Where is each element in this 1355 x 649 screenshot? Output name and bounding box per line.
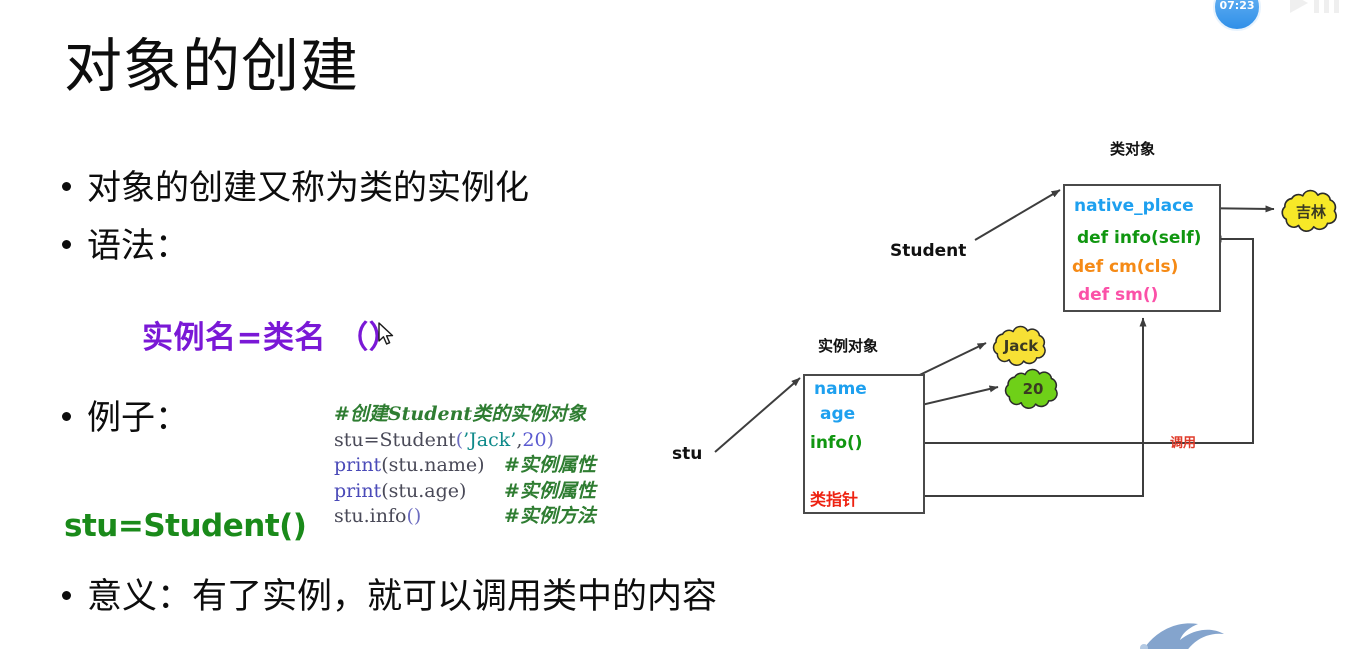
bullet-dot-icon (62, 182, 71, 191)
page-title: 对象的创建 (64, 36, 359, 97)
instance-slot-class-pointer: 类指针 (810, 486, 858, 510)
bullet-dot-icon (62, 240, 71, 249)
diagram-label-instance-object: 实例对象 (818, 335, 878, 356)
code-token: (stu.name) (381, 454, 484, 476)
code-token: print (334, 480, 381, 502)
instance-slot-age: age (820, 404, 855, 424)
cloud-jack: Jack (988, 325, 1054, 367)
code-line: print(stu.age) #实例属性 (334, 479, 586, 505)
bullet-text: 语法： (87, 228, 189, 265)
bullet-item: 意义：有了实例，就可以调用类中的内容 (62, 578, 717, 617)
diagram-label-class-object: 类对象 (1110, 138, 1155, 159)
cloud-twenty: 20 (1000, 368, 1066, 410)
diagram-label-student: Student (890, 241, 966, 261)
bullet-dot-icon (62, 412, 71, 421)
slide-canvas: 对象的创建 对象的创建又称为类的实例化 语法： 例子： 意义：有了实例，就可以调… (0, 0, 1355, 649)
bullet-item: 例子： (62, 400, 189, 437)
diagram-label-invoke: 调用 (1170, 432, 1196, 451)
stu-student-expression: stu=Student() (64, 508, 306, 544)
code-comment: #实例属性 (504, 453, 596, 479)
avatar: 07:23 (1213, 0, 1261, 31)
cloud-label: Jack (1004, 337, 1039, 355)
code-comment: #创建Student类的实例对象 (334, 403, 586, 425)
bullet-text: 例子： (87, 400, 189, 437)
code-token: (stu.age) (381, 480, 466, 502)
cloud-jilin: 吉林 (1276, 189, 1346, 233)
code-line: stu=Student(’Jack’,20) (334, 428, 586, 454)
bullet-text: 意义：有了实例，就可以调用类中的内容 (87, 578, 717, 617)
class-slot-native-place: native_place (1074, 196, 1194, 216)
bullet-item: 对象的创建又称为类的实例化 (62, 170, 529, 207)
code-token: stu.info (334, 505, 406, 527)
code-comment: #实例属性 (504, 479, 596, 505)
code-token: 20 (522, 429, 546, 451)
code-comment: #实例方法 (504, 504, 596, 530)
code-token: stu=Student (334, 429, 456, 451)
class-slot-cm: def cm(cls) (1072, 257, 1178, 277)
code-sample: #创建Student类的实例对象 stu=Student(’Jack’,20) … (334, 402, 586, 530)
code-token: ’Jack’ (463, 429, 516, 451)
cloud-label: 20 (1023, 380, 1044, 398)
diagram-label-stu: stu (672, 444, 702, 464)
bullet-text: 对象的创建又称为类的实例化 (87, 170, 529, 207)
code-token: () (406, 505, 421, 527)
brand-watermark-icon (1288, 0, 1354, 16)
code-token: print (334, 454, 381, 476)
code-line: print(stu.name) #实例属性 (334, 453, 586, 479)
bullet-dot-icon (62, 591, 71, 600)
mouse-cursor-icon (378, 322, 395, 347)
dolphin-logo-icon (1136, 612, 1256, 649)
instance-slot-name: name (814, 379, 867, 399)
class-slot-info: def info(self) (1077, 228, 1201, 248)
code-token: ) (547, 429, 554, 451)
cloud-label: 吉林 (1296, 201, 1326, 222)
syntax-formula: 实例名=类名 （） (142, 312, 400, 357)
code-line: #创建Student类的实例对象 (334, 402, 586, 428)
class-slot-sm: def sm() (1078, 285, 1158, 305)
code-line: stu.info() #实例方法 (334, 504, 586, 530)
instance-slot-info: info() (810, 433, 863, 453)
bullet-item: 语法： (62, 228, 189, 265)
avatar-timestamp: 07:23 (1215, 0, 1259, 12)
